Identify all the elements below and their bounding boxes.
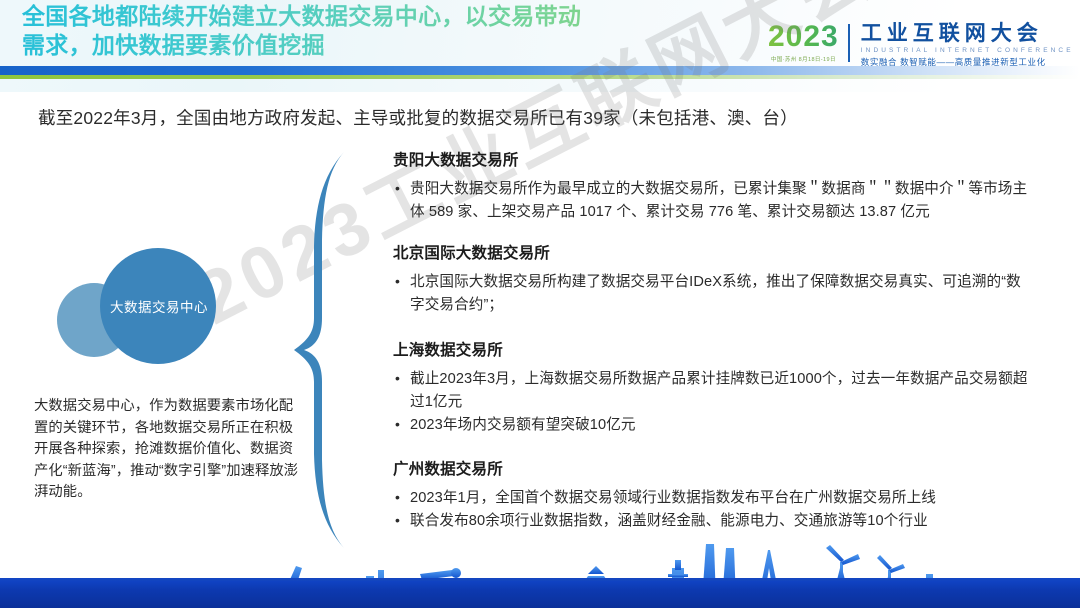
title-container: 全国各地都陆续开始建立大数据交易中心，以交易带动 需求，加快数据要素价值挖掘 <box>22 2 742 60</box>
logo-year: 2023 <box>768 22 839 52</box>
bullet-list: 贵阳大数据交易所作为最早成立的大数据交易所，已累计集聚＂数据商＂＂数据中介＂等市… <box>393 178 1033 223</box>
logo-name-cn: 工业互联网大会 <box>861 22 1074 45</box>
conference-logo: 2023 中国·苏州 8月18日-19日 工业互联网大会 INDUSTRIAL … <box>768 22 1074 68</box>
list-item: 北京国际大数据交易所构建了数据交易平台IDeX系统，推出了保障数据交易真实、可追… <box>393 271 1033 316</box>
footer-ground-band <box>0 578 1080 608</box>
logo-divider <box>848 24 850 62</box>
section-title: 北京国际大数据交易所 <box>393 241 1033 263</box>
slide-canvas: 全国各地都陆续开始建立大数据交易中心，以交易带动 需求，加快数据要素价值挖掘 2… <box>0 0 1080 608</box>
list-item: 截止2023年3月，上海数据交易所数据产品累计挂牌数已近1000个，过去一年数据… <box>393 368 1033 413</box>
section-title: 贵阳大数据交易所 <box>393 148 1033 170</box>
list-item: 2023年1月，全国首个数据交易领域行业数据指数发布平台在广州数据交易所上线 <box>393 487 1033 510</box>
section-title: 广州数据交易所 <box>393 457 1033 479</box>
section-guangzhou: 广州数据交易所 2023年1月，全国首个数据交易领域行业数据指数发布平台在广州数… <box>393 457 1033 533</box>
section-shanghai: 上海数据交易所 截止2023年3月，上海数据交易所数据产品累计挂牌数已近1000… <box>393 338 1033 437</box>
logo-name-en: INDUSTRIAL INTERNET CONFERENCE <box>861 47 1074 54</box>
lead-statement: 截至2022年3月，全国由地方政府发起、主导或批复的数据交易所已有39家（未包括… <box>38 105 798 130</box>
logo-slogan: 数实融合 数智赋能——高质量推进新型工业化 <box>861 56 1074 68</box>
list-item: 贵阳大数据交易所作为最早成立的大数据交易所，已累计集聚＂数据商＂＂数据中介＂等市… <box>393 178 1033 223</box>
left-description: 大数据交易中心，作为数据要素市场化配置的关键环节，各地数据交易所正在积极开展各种… <box>34 396 302 504</box>
content-column: 贵阳大数据交易所 贵阳大数据交易所作为最早成立的大数据交易所，已累计集聚＂数据商… <box>393 148 1033 535</box>
logo-date: 中国·苏州 8月18日-19日 <box>768 55 839 63</box>
header-rule-green <box>0 75 1080 79</box>
list-item: 联合发布80余项行业数据指数，涵盖财经金融、能源电力、交通旅游等10个行业 <box>393 510 1033 533</box>
section-title: 上海数据交易所 <box>393 338 1033 360</box>
section-guiyang: 贵阳大数据交易所 贵阳大数据交易所作为最早成立的大数据交易所，已累计集聚＂数据商… <box>393 148 1033 223</box>
bullet-list: 2023年1月，全国首个数据交易领域行业数据指数发布平台在广州数据交易所上线 联… <box>393 487 1033 533</box>
logo-text-block: 工业互联网大会 INDUSTRIAL INTERNET CONFERENCE 数… <box>859 22 1074 68</box>
bullet-list: 截止2023年3月，上海数据交易所数据产品累计挂牌数已近1000个，过去一年数据… <box>393 368 1033 437</box>
curly-brace-icon <box>292 150 348 550</box>
circle-label: 大数据交易中心 <box>98 296 220 316</box>
list-item: 2023年场内交易额有望突破10亿元 <box>393 414 1033 437</box>
section-beijing: 北京国际大数据交易所 北京国际大数据交易所构建了数据交易平台IDeX系统，推出了… <box>393 241 1033 316</box>
bullet-list: 北京国际大数据交易所构建了数据交易平台IDeX系统，推出了保障数据交易真实、可追… <box>393 271 1033 316</box>
logo-year-block: 2023 中国·苏州 8月18日-19日 <box>768 22 839 63</box>
page-title: 全国各地都陆续开始建立大数据交易中心，以交易带动 需求，加快数据要素价值挖掘 <box>22 2 742 60</box>
